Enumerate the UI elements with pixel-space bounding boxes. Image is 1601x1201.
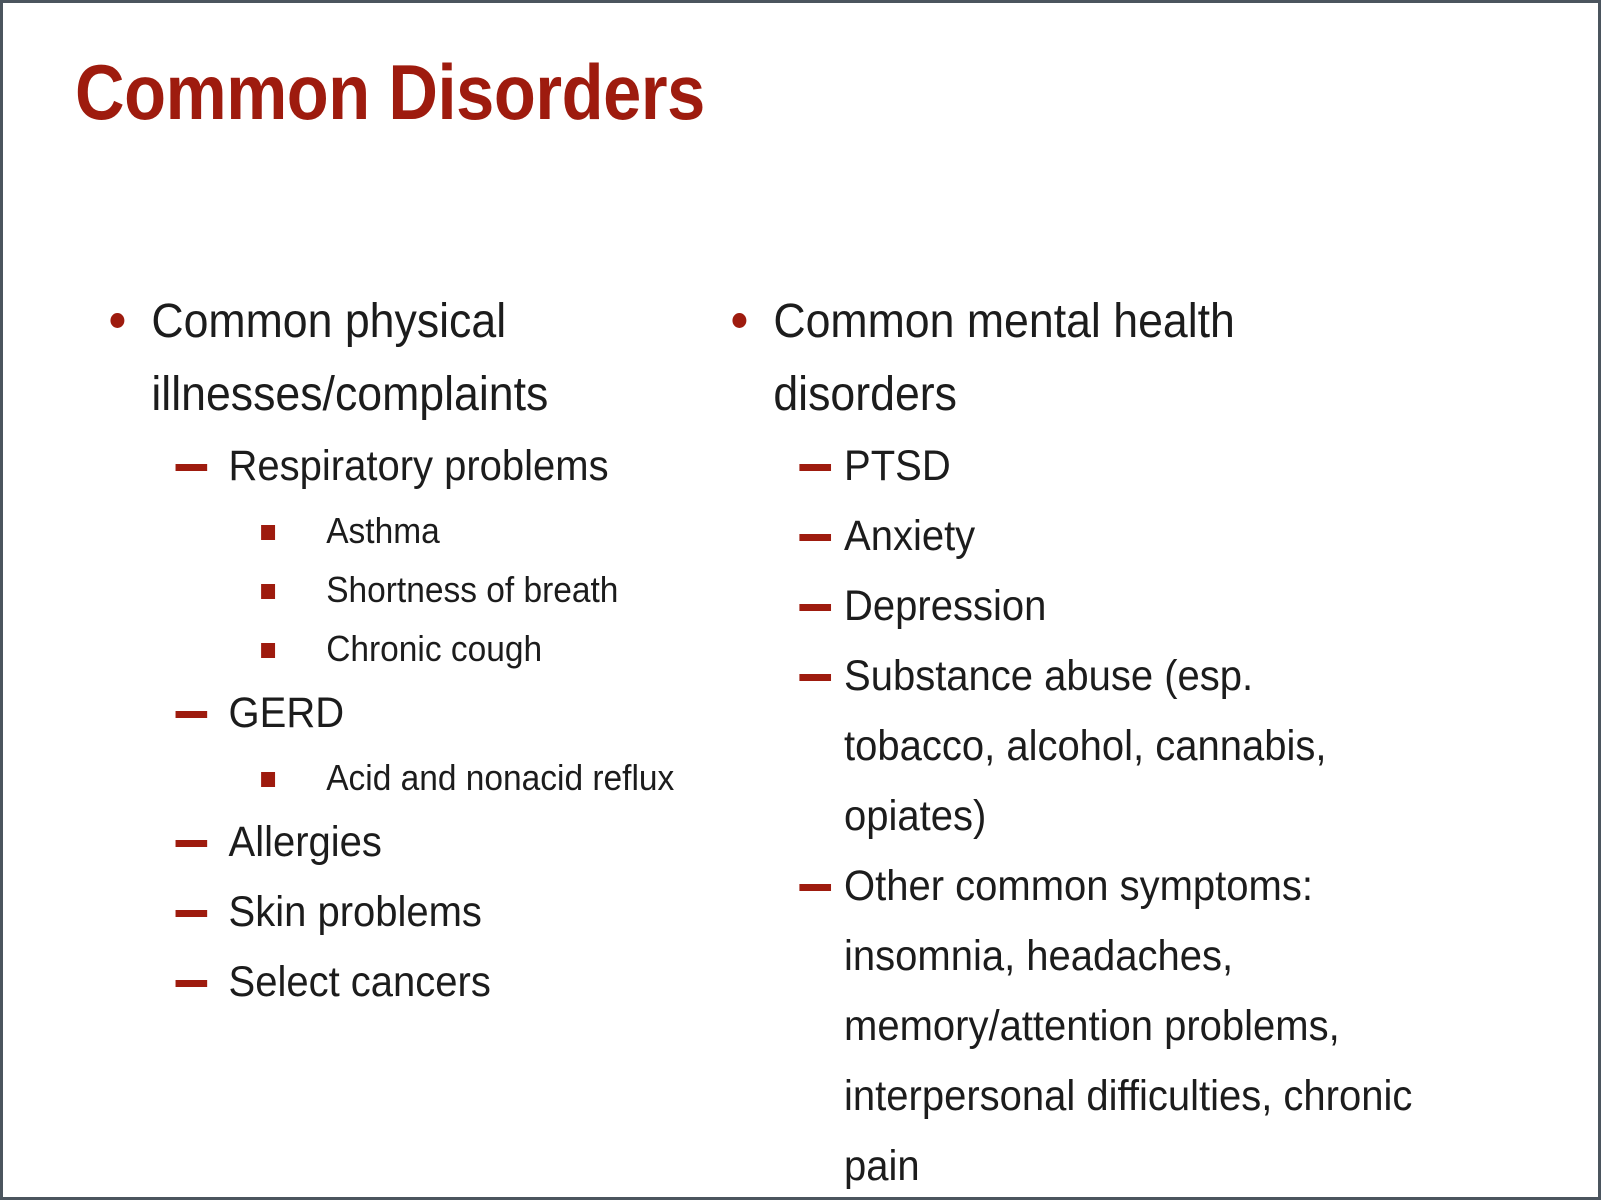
dash-bullet-icon — [799, 884, 831, 891]
bullet-item: Select cancers — [103, 947, 680, 1017]
bullet-item: Common mental health disorders — [725, 285, 1413, 431]
square-bullet-icon — [261, 525, 275, 540]
bullet-item: Other common symptoms: insomnia, headach… — [725, 851, 1413, 1201]
bullet-item-label: Select cancers — [229, 947, 680, 1017]
bullet-item: Shortness of breath — [103, 560, 680, 619]
bullet-item-label: Allergies — [229, 807, 680, 877]
bullet-item-label: PTSD — [844, 431, 1413, 501]
bullet-item-label: Chronic cough — [326, 619, 679, 678]
bullet-item: Depression — [725, 571, 1413, 641]
round-dot-bullet-icon — [732, 313, 746, 328]
bullet-item: Anxiety — [725, 501, 1413, 571]
dash-bullet-icon — [176, 980, 208, 987]
bullet-item-label: Acid and nonacid reflux — [326, 748, 679, 807]
bullet-item-label: Common physical illnesses/complaints — [151, 285, 679, 431]
dash-bullet-icon — [799, 464, 831, 471]
bullet-item: Acid and nonacid reflux — [103, 748, 680, 807]
bullet-item: Common physical illnesses/complaints — [103, 285, 680, 431]
bullet-item: Chronic cough — [103, 619, 680, 678]
bullet-item: Respiratory problems — [103, 431, 680, 501]
bullet-item: PTSD — [725, 431, 1413, 501]
dash-bullet-icon — [799, 604, 831, 611]
dash-bullet-icon — [176, 711, 208, 718]
bullet-item: Asthma — [103, 501, 680, 560]
square-bullet-icon — [261, 584, 275, 599]
bullet-item-label: Substance abuse (esp. tobacco, alcohol, … — [844, 641, 1413, 851]
bullet-item-label: GERD — [229, 678, 680, 748]
slide-canvas: Common Disorders Common physical illness… — [0, 0, 1601, 1200]
dash-bullet-icon — [176, 840, 208, 847]
content-column-right: Common mental health disordersPTSDAnxiet… — [725, 285, 1465, 1201]
square-bullet-icon — [261, 772, 275, 787]
bullet-item-label: Anxiety — [844, 501, 1413, 571]
bullet-item-label: Skin problems — [229, 877, 680, 947]
slide-body: Common physical illnesses/complaintsResp… — [3, 285, 1601, 1185]
bullet-item-label: Other common symptoms: insomnia, headach… — [844, 851, 1413, 1201]
bullet-item-label: Respiratory problems — [229, 431, 680, 501]
bullet-item: GERD — [103, 678, 680, 748]
bullet-item-label: Depression — [844, 571, 1413, 641]
bullet-item-label: Asthma — [326, 501, 679, 560]
round-dot-bullet-icon — [110, 313, 124, 328]
bullet-item-label: Common mental health disorders — [773, 285, 1413, 431]
dash-bullet-icon — [176, 910, 208, 917]
bullet-item-label: Shortness of breath — [326, 560, 679, 619]
dash-bullet-icon — [799, 674, 831, 681]
bullet-item: Allergies — [103, 807, 680, 877]
page-title: Common Disorders — [75, 45, 1351, 139]
dash-bullet-icon — [176, 464, 208, 471]
bullet-item: Skin problems — [103, 877, 680, 947]
bullet-item: Substance abuse (esp. tobacco, alcohol, … — [725, 641, 1413, 851]
content-column-left: Common physical illnesses/complaintsResp… — [103, 285, 723, 1017]
dash-bullet-icon — [799, 534, 831, 541]
square-bullet-icon — [261, 643, 275, 658]
